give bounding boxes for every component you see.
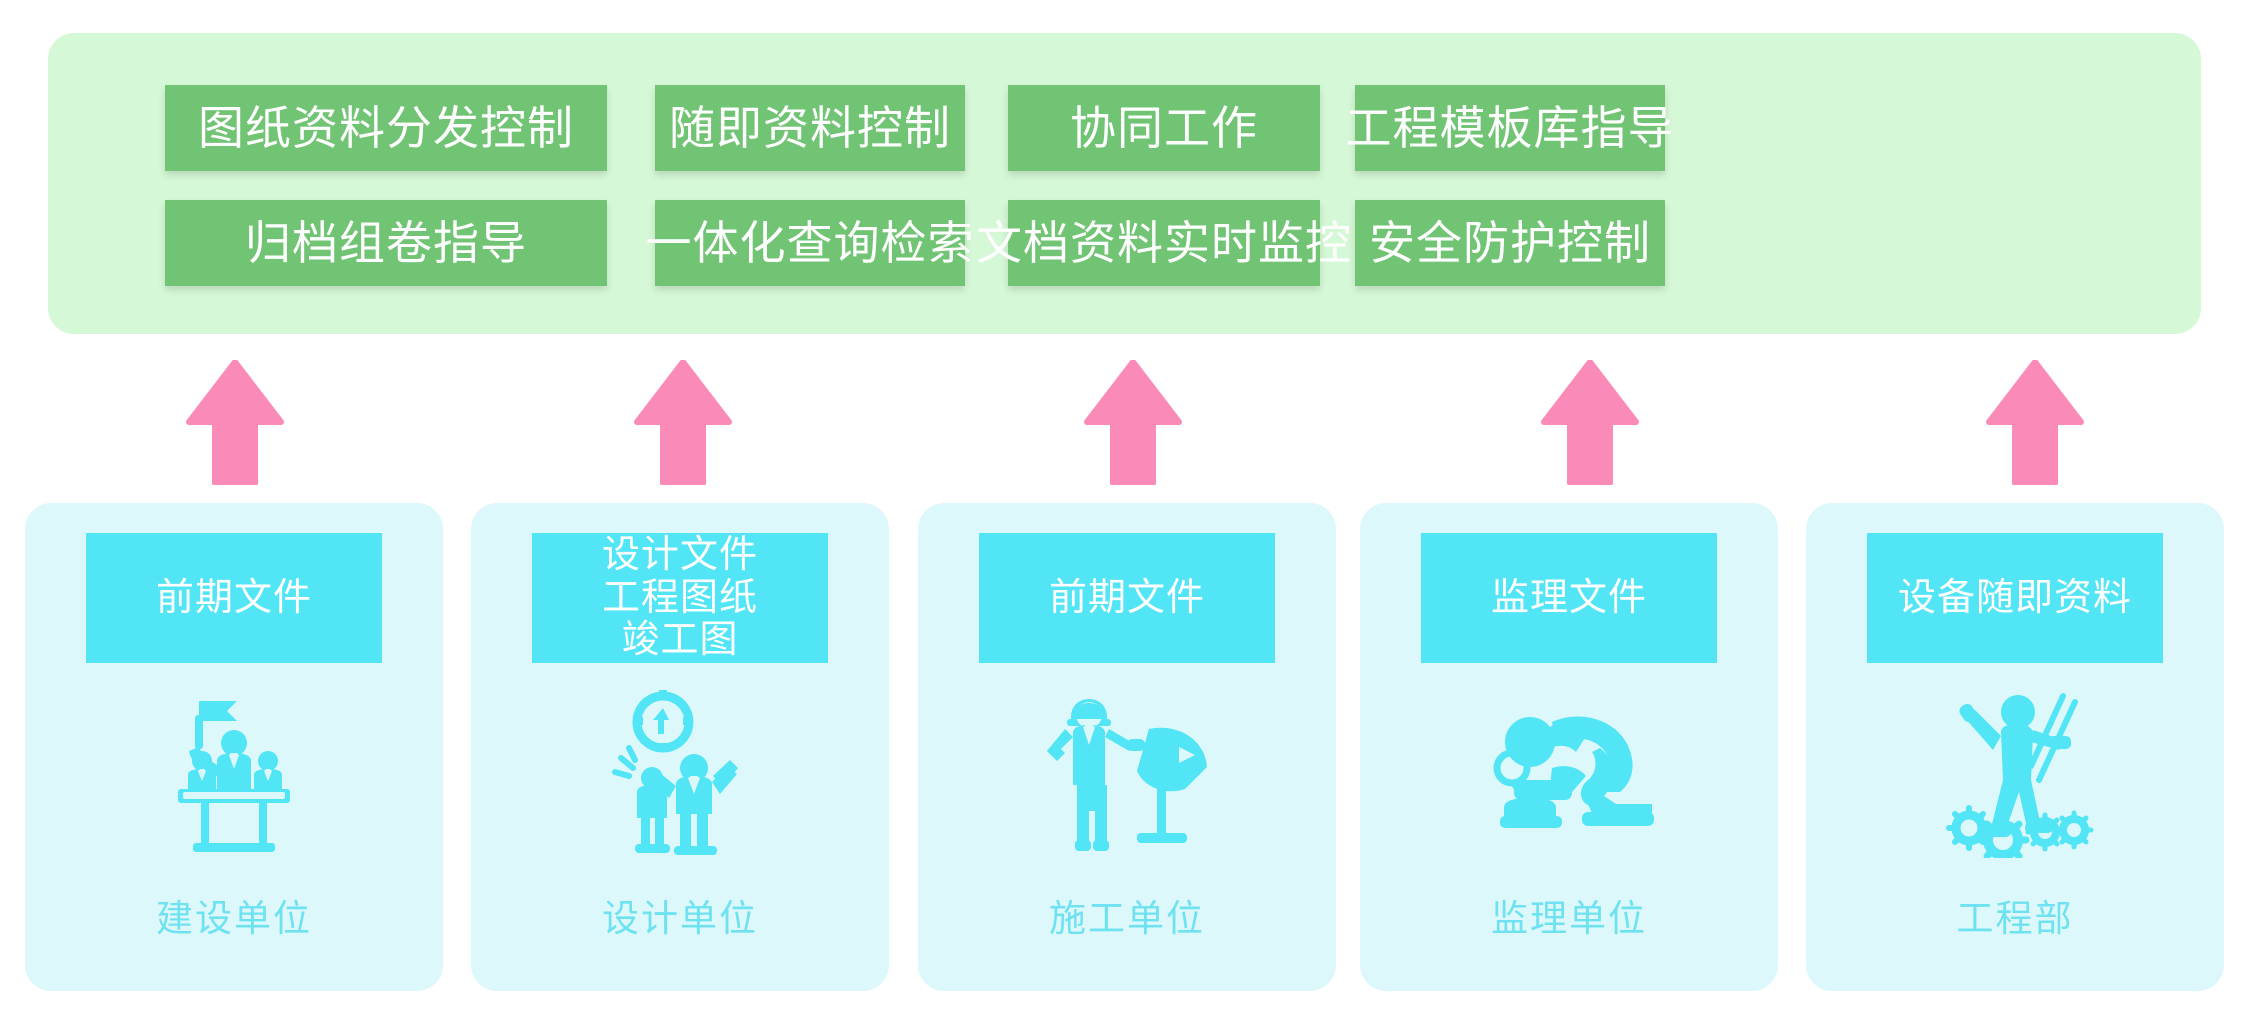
capability-chip[interactable]: 协同工作: [1008, 85, 1320, 171]
participant-badge: 监理文件: [1421, 533, 1717, 663]
participant-row: 前期文件: [0, 503, 2249, 998]
participant-card[interactable]: 前期文件: [25, 503, 443, 991]
arrow-up-icon: [1540, 360, 1640, 485]
capability-chip[interactable]: 工程模板库指导: [1355, 85, 1665, 171]
participant-card[interactable]: 监理文件 监理单位: [1360, 503, 1778, 991]
arrow-up-icon: [633, 360, 733, 485]
participant-card[interactable]: 设备随即资料: [1806, 503, 2224, 991]
capability-chip[interactable]: 归档组卷指导: [165, 200, 607, 286]
capability-chip[interactable]: 文档资料实时监控: [1008, 200, 1320, 286]
participant-label: 设计单位: [471, 888, 889, 942]
inspector-magnifier-icon: [1474, 685, 1664, 860]
capability-panel: 图纸资料分发控制 归档组卷指导 随即资料控制 一体化查询检索 协同工作 文档资料…: [48, 33, 2201, 334]
arrow-row: [0, 360, 2249, 505]
participant-label: 建设单位: [25, 888, 443, 942]
participant-label: 施工单位: [918, 888, 1336, 942]
participant-badge: 设备随即资料: [1867, 533, 2163, 663]
participant-card[interactable]: 设计文件 工程图纸 竣工图: [471, 503, 889, 991]
arrow-up-icon: [1083, 360, 1183, 485]
participant-badge: 前期文件: [86, 533, 382, 663]
podium-speakers-icon: [139, 685, 329, 860]
participant-label: 监理单位: [1360, 888, 1778, 942]
capability-chip[interactable]: 随即资料控制: [655, 85, 965, 171]
participant-card[interactable]: 前期文件: [918, 503, 1336, 991]
capability-chip[interactable]: 一体化查询检索: [655, 200, 965, 286]
arrow-up-icon: [1985, 360, 2085, 485]
participant-badge: 设计文件 工程图纸 竣工图: [532, 533, 828, 663]
engineer-antenna-icon: [1032, 685, 1222, 860]
designers-clock-icon: [585, 685, 775, 860]
capability-chip[interactable]: 安全防护控制: [1355, 200, 1665, 286]
arrow-up-icon: [185, 360, 285, 485]
worker-gears-icon: [1920, 685, 2110, 860]
participant-label: 工程部: [1806, 888, 2224, 942]
capability-chip[interactable]: 图纸资料分发控制: [165, 85, 607, 171]
participant-badge: 前期文件: [979, 533, 1275, 663]
